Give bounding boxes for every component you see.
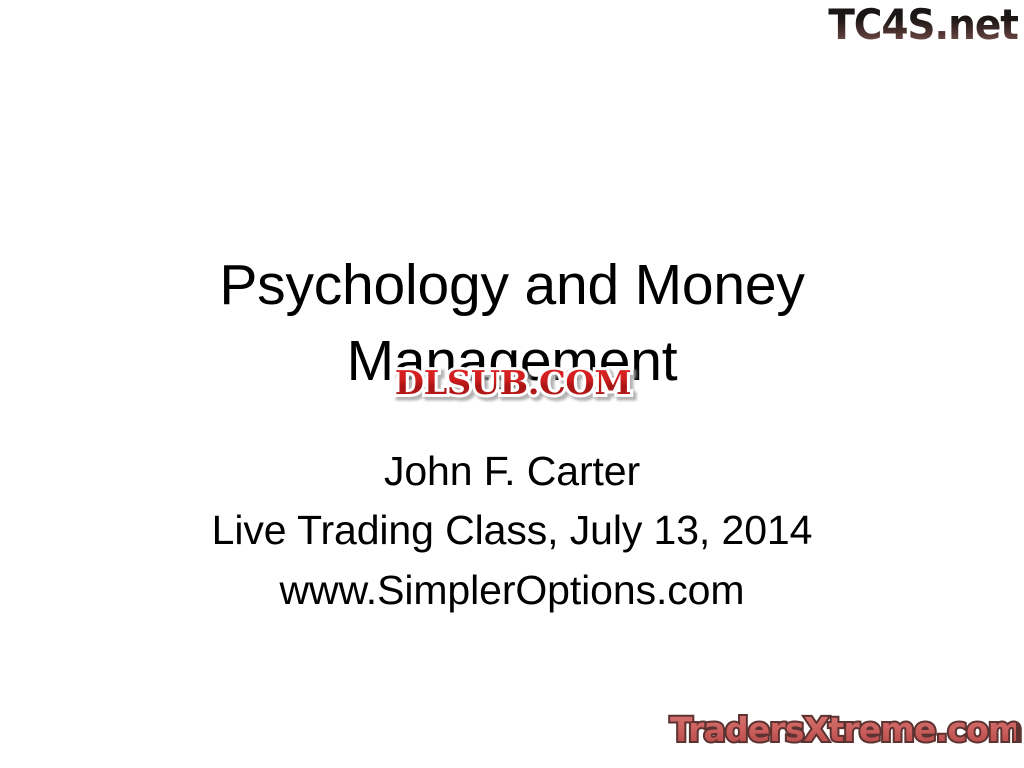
watermark-dlsub-com: DLSUB.COM DLSUB.COM DLSUB.COM	[371, 361, 655, 405]
watermark-dlsub-face: DLSUB.COM	[368, 361, 658, 405]
subtitle-line-class-date: Live Trading Class, July 13, 2014	[140, 501, 884, 560]
subtitle-line-website: www.SimplerOptions.com	[140, 561, 884, 620]
watermark-tradersxtreme-com: TradersXtreme.com TradersXtreme.com Trad…	[670, 710, 1016, 754]
watermark-tradersxtreme-face: TradersXtreme.com	[670, 710, 1016, 750]
presentation-slide: TC4S.net Psychology and Money Management…	[0, 0, 1024, 768]
subtitle-line-author: John F. Carter	[140, 442, 884, 501]
subtitle-block: John F. Carter Live Trading Class, July …	[140, 442, 884, 620]
watermark-tc4s-net: TC4S.net	[828, 0, 1018, 50]
